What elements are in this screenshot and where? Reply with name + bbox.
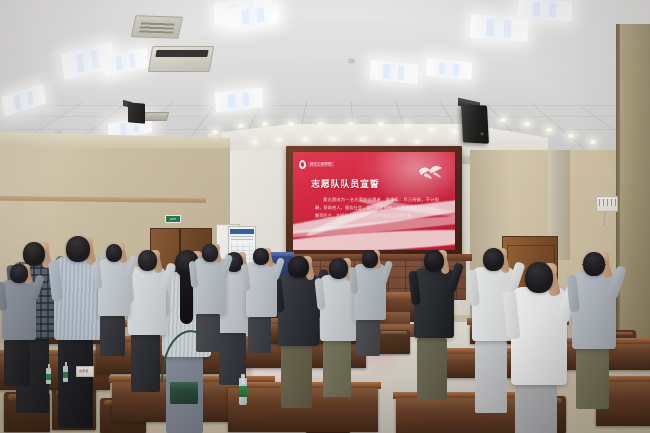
person-head (329, 258, 348, 279)
person-torso (278, 274, 319, 345)
person-legs (131, 334, 160, 392)
person-white-tee-large-front[interactable] (508, 262, 572, 433)
person-legs (576, 349, 609, 409)
person-legs (58, 340, 93, 428)
person-legs (4, 340, 30, 386)
desk-name-card: 志愿者 (76, 366, 94, 377)
person-torso (98, 259, 131, 316)
water-bottle (239, 371, 247, 405)
person-legs (248, 317, 271, 353)
bottle-cap (241, 374, 245, 379)
person-torso (414, 268, 454, 338)
person-head (23, 242, 45, 266)
person-head (288, 256, 308, 278)
person-head (253, 248, 269, 265)
person-head (424, 250, 444, 272)
person-legs (100, 316, 125, 356)
person-head (66, 236, 90, 262)
audience-crowd (0, 0, 650, 433)
desk-name-card-text: 志愿者 (79, 370, 89, 373)
person-head (202, 244, 218, 262)
person-seated-back-left[interactable] (0, 264, 40, 402)
person-legs (417, 338, 447, 400)
conference-hall-photo: 浙江工商学院 志愿队队员宣誓 我志愿成为一名光荣的志愿者，我承诺：尽己所能，不计… (0, 0, 650, 433)
person-legs (281, 346, 312, 408)
person-head (138, 250, 157, 271)
water-bottle[interactable] (46, 364, 51, 384)
glasses-icon (582, 264, 606, 267)
person-back-row-d[interactable] (352, 250, 389, 378)
bottle-label (239, 386, 247, 397)
person-torso (572, 272, 616, 349)
person-head (525, 262, 553, 293)
shoulder-bag[interactable] (170, 382, 198, 404)
person-head (362, 250, 378, 268)
person-glasses-grey[interactable] (570, 252, 621, 428)
person-head (483, 248, 504, 271)
person-torso (354, 264, 386, 320)
water-bottle[interactable] (63, 362, 68, 382)
person-back-row-c[interactable] (244, 248, 280, 373)
person-black-tee-right[interactable] (412, 250, 458, 410)
person-torso (2, 280, 36, 340)
person-legs (475, 341, 507, 413)
person-head (10, 264, 27, 283)
person-torso (194, 258, 226, 314)
person-legs (515, 385, 557, 433)
person-torso (246, 262, 277, 317)
person-legs (356, 320, 380, 356)
person-head (106, 244, 122, 262)
person-legs (323, 341, 351, 397)
person-back-row-a[interactable] (96, 244, 134, 375)
wall-control-panel[interactable] (596, 196, 618, 212)
